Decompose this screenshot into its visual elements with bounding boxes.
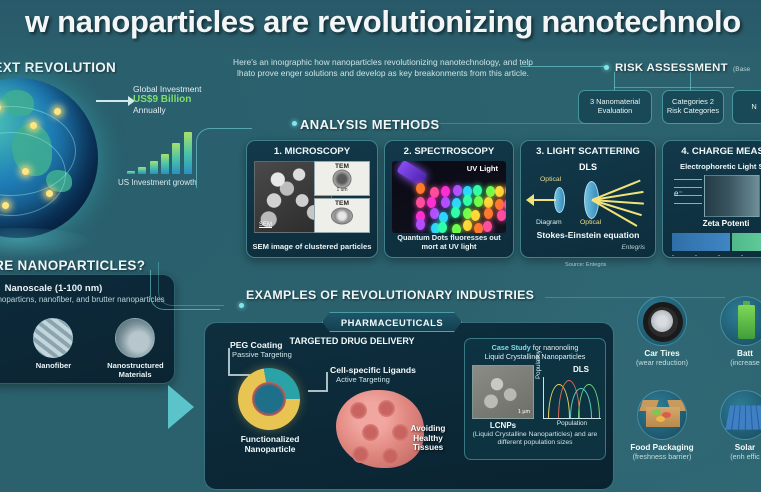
quantum-dot [416, 183, 425, 194]
section-what-are-heading: T ARE NANOPARTICLES? [0, 258, 145, 273]
quantum-dot [471, 210, 480, 221]
list-item: Nanofiber [25, 318, 81, 382]
investment-bar-chart [126, 126, 194, 174]
electrophoresis-cell-icon [704, 175, 760, 217]
quantum-dot [463, 195, 472, 206]
industry-sub: (wear reduction) [629, 359, 695, 368]
risk-bus-line [614, 72, 734, 88]
globe-icon [0, 78, 98, 238]
risk-box-2[interactable]: Categories 2 Risk Categories [662, 90, 724, 124]
dls-label: DLS [526, 162, 650, 172]
risk-box-3[interactable]: N [732, 90, 761, 124]
optical-label-bottom: Optical [580, 219, 601, 226]
optical-label-left: Optical [540, 176, 561, 183]
electron-label: e⁻ [674, 189, 683, 198]
quantum-dot [416, 219, 425, 230]
page-title: w nanoparticles are revolutionizing nano… [0, 4, 761, 40]
avoiding-healthy-tissues-label: Avoiding Healthy Tissues [397, 424, 459, 453]
page-subtitle: Here's an inoıgraphic how nanoparticles … [233, 57, 533, 80]
case-study-panel: Case Study for nanonoling Liquid Crystal… [464, 338, 606, 460]
uv-lamp-icon [396, 161, 427, 186]
industry-car-tires[interactable]: Car Tires (wear reduction) [629, 296, 695, 367]
card-microscopy-title: 1. MICROSCOPY [247, 146, 377, 157]
diagram-label: Diagram [536, 219, 562, 226]
infographic-canvas: w nanoparticles are revolutionizing nano… [0, 0, 761, 492]
cell-ligand-sub: Active Targeting [336, 375, 390, 384]
quantum-dot [474, 223, 483, 233]
quantum-dot [427, 197, 436, 208]
chart-bar [150, 161, 158, 174]
nanofiber-icon [33, 318, 73, 358]
zeta-scale: ----0+ [672, 253, 761, 259]
quantum-dot [416, 197, 425, 208]
list-item: Nanostructured Materials [107, 318, 163, 382]
quantum-dot [451, 207, 460, 218]
section-next-revolution-heading: E NEXT REVOLUTION [0, 60, 116, 75]
case-study-dls-label: DLS [573, 365, 589, 374]
quantum-dot [438, 222, 447, 233]
investment-pointer-line [96, 100, 130, 102]
zeta-scale-mark: - [741, 253, 743, 259]
solar-panel-icon [720, 390, 761, 440]
battery-icon [720, 296, 761, 346]
industry-sub: (freshness barrier) [629, 453, 695, 462]
ray-arrow [526, 194, 534, 206]
case-study-bold: Case Study [492, 343, 531, 352]
case-study-note: (Liquid Crystalline Nanoparticles) and a… [465, 431, 605, 448]
functionalized-nanoparticle-icon [238, 368, 300, 430]
zeta-scale-mark: - [672, 253, 674, 259]
dls-distribution-plot [543, 377, 601, 419]
section-analysis-heading: ANALYSIS METHODS [300, 117, 440, 132]
card-charge-title: 4. CHARGE MEASU [663, 146, 761, 157]
quantum-dot [483, 221, 492, 232]
case-study-ylabel: Populatioy [535, 350, 542, 379]
lcnp-label: LCNPs [472, 421, 534, 430]
tem-panel-2: TEM [314, 198, 370, 233]
chart-bar [138, 167, 146, 174]
quantum-dot [430, 208, 439, 219]
section-examples-heading: EXAMPLES OF REVOLUTIONARY INDUSTRIES [246, 288, 534, 302]
functionalized-nanoparticle-label: Functionalized Nanoparticle [228, 434, 312, 454]
card-microscopy[interactable]: 1. MICROSCOPY SEM TEM 1 um TEM SEM image… [246, 140, 378, 258]
card-spectroscopy-caption: Quantum Dots fluoresses out mort at UV l… [390, 233, 508, 251]
tem-label-2: TEM [315, 200, 369, 207]
quantum-dot [463, 220, 472, 231]
zeta-scale-mark: - [695, 253, 697, 259]
source-note: Source: Entegris [565, 262, 606, 268]
industry-solar[interactable]: Solar (enh effic [712, 390, 761, 461]
quantum-dot [484, 208, 493, 219]
risk-note: (Base [733, 66, 750, 73]
risk-drop-1 [614, 72, 615, 90]
quantum-dot [441, 186, 450, 197]
nanofiber-label: Nanofiber [25, 361, 81, 370]
sem-tag: SEM [259, 222, 272, 228]
globe-reflection [0, 228, 94, 258]
card-spectroscopy-title: 2. SPECTROSCOPY [385, 146, 513, 157]
stokes-einstein-equation: Stokes-Einstein equation [526, 230, 650, 240]
quantum-dot [484, 197, 493, 208]
chart-bar [184, 132, 192, 174]
package-icon [637, 390, 687, 440]
risk-drop-2 [690, 72, 691, 90]
quantum-dot [452, 224, 461, 234]
tem-panel-1: TEM 1 um [314, 161, 370, 196]
quantum-dot [495, 199, 504, 210]
lcnp-scalebar: 1 µm [518, 409, 530, 415]
tem-particle-1 [333, 170, 352, 189]
card-light-scattering[interactable]: 3. LIGHT SCATTERING DLS Optical Diagram … [520, 140, 656, 258]
card-charge-measurement[interactable]: 4. CHARGE MEASU Electrophoretic Light Sc… [662, 140, 761, 258]
industry-sub: (enh effic [712, 453, 761, 462]
nanoscale-card: Nanoscale (1-100 nm) ns of cartant nanop… [0, 274, 175, 384]
quantum-dot [439, 212, 448, 223]
quantum-dot [453, 185, 462, 196]
tem-scalebar: 1 um [336, 187, 347, 193]
ligand-leader-h [308, 390, 328, 392]
lcnp-micrograph: 1 µm [472, 365, 534, 419]
nanostructured-icon [115, 318, 155, 358]
pharmaceuticals-tab[interactable]: PHARMACEUTICALS [322, 312, 462, 332]
ligand-leader-v [326, 372, 328, 390]
zeta-negative-bar [672, 233, 730, 251]
els-label: Electrophoretic Light Sca [668, 162, 761, 171]
industry-batteries[interactable]: Batt (increase [712, 296, 761, 367]
tire-icon [637, 296, 687, 346]
global-investment-sub: Annually [133, 105, 166, 115]
zeta-potential-label: Zeta Potenti [668, 219, 761, 228]
entegris-logo: Entegris [622, 244, 645, 251]
quantum-dot [495, 186, 504, 197]
card-spectroscopy[interactable]: 2. SPECTROSCOPY UV Light Quantum Dots fl… [384, 140, 514, 258]
nanoparticle-core [252, 382, 286, 416]
quantum-dot [474, 196, 483, 207]
industry-food-packaging[interactable]: Food Packaging (freshness barrier) [629, 390, 695, 461]
card-light-scattering-title: 3. LIGHT SCATTERING [521, 146, 655, 157]
connector-risk-line [520, 66, 606, 67]
globe-illustration [0, 78, 118, 258]
investment-chart-caption: US Investment growth [118, 178, 197, 187]
chart-bar [127, 171, 135, 174]
chart-bar [172, 143, 180, 174]
uv-illustration: UV Light [392, 161, 506, 233]
chart-bar [161, 154, 169, 174]
industry-sub: (increase [712, 359, 761, 368]
peg-coating-label: PEG Coating [230, 340, 283, 350]
card-microscopy-caption: SEM image of clustered particles [252, 242, 372, 251]
cell-ligand-label: Cell-specific Ligands [330, 365, 416, 375]
case-study-xlabel: Population [543, 420, 601, 427]
nanostructured-label: Nanostructured Materials [107, 361, 163, 379]
global-investment-label: Global Investment [133, 84, 202, 94]
connector-left-lower-2 [158, 262, 224, 306]
connector-dot-analysis [292, 121, 297, 126]
uv-light-label: UV Light [467, 164, 498, 173]
peg-leader-v [228, 348, 230, 374]
quantum-dot [505, 185, 506, 196]
quantum-dot [486, 186, 495, 197]
connector-dot-examples [239, 303, 244, 308]
global-investment-value: US$9 Billion [133, 94, 191, 105]
zeta-scale-mark: - [718, 253, 720, 259]
connector-left-upper [196, 128, 252, 188]
quantum-dot [441, 197, 450, 208]
risk-box-1[interactable]: 3 Nanomaterial Evaluation [578, 90, 652, 124]
nanoscale-items: be Nanofiber Nanostructured Materials [0, 318, 176, 382]
zeta-positive-bar [732, 233, 761, 251]
peg-coating-sub: Passive Targeting [232, 350, 292, 359]
tem-particle-2 [331, 208, 353, 225]
quantum-dot [473, 185, 482, 196]
flow-arrow-to-pharma [168, 385, 194, 429]
quantum-dot [430, 187, 439, 198]
